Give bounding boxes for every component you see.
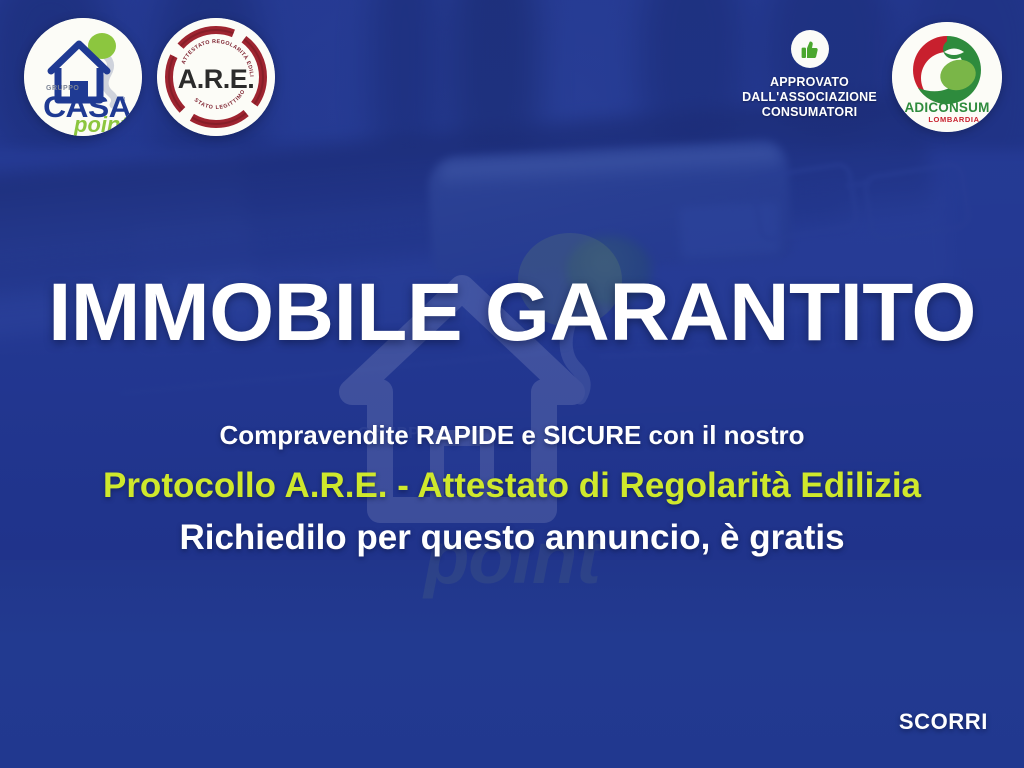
svg-text:®: ® [120,96,126,104]
casapoint-logo: GRUPPO CASA ® point [24,18,142,136]
approvato-line-2: DALL'ASSOCIAZIONE [737,90,882,105]
page-title: IMMOBILE GARANTITO [0,272,1024,354]
thumbs-up-icon [791,30,829,68]
subline-2-protocol: Protocollo A.R.E. - Attestato di Regolar… [0,466,1024,506]
property-banner-image: GRUPPO point GRUPPO CASA ® point [0,0,1024,768]
svg-text:ADICONSUM: ADICONSUM [904,100,989,115]
background-solid-lower [0,560,1024,768]
svg-text:A.R.E.: A.R.E. [178,64,255,94]
subline-1: Compravendite RAPIDE e SICURE con il nos… [0,420,1024,451]
approvato-block: APPROVATO DALL'ASSOCIAZIONE CONSUMATORI [737,30,882,119]
are-logo: ATTESTATO REGOLARITÀ EDILIZIA STATO LEGI… [157,18,275,136]
approvato-line-1: APPROVATO [737,75,882,90]
adiconsum-logo: ADICONSUM LOMBARDIA [892,22,1002,132]
svg-text:LOMBARDIA: LOMBARDIA [928,115,979,124]
subline-3-cta: Richiedilo per questo annuncio, è gratis [0,518,1024,558]
scroll-hint: SCORRI [899,709,988,735]
approvato-line-3: CONSUMATORI [737,105,882,120]
